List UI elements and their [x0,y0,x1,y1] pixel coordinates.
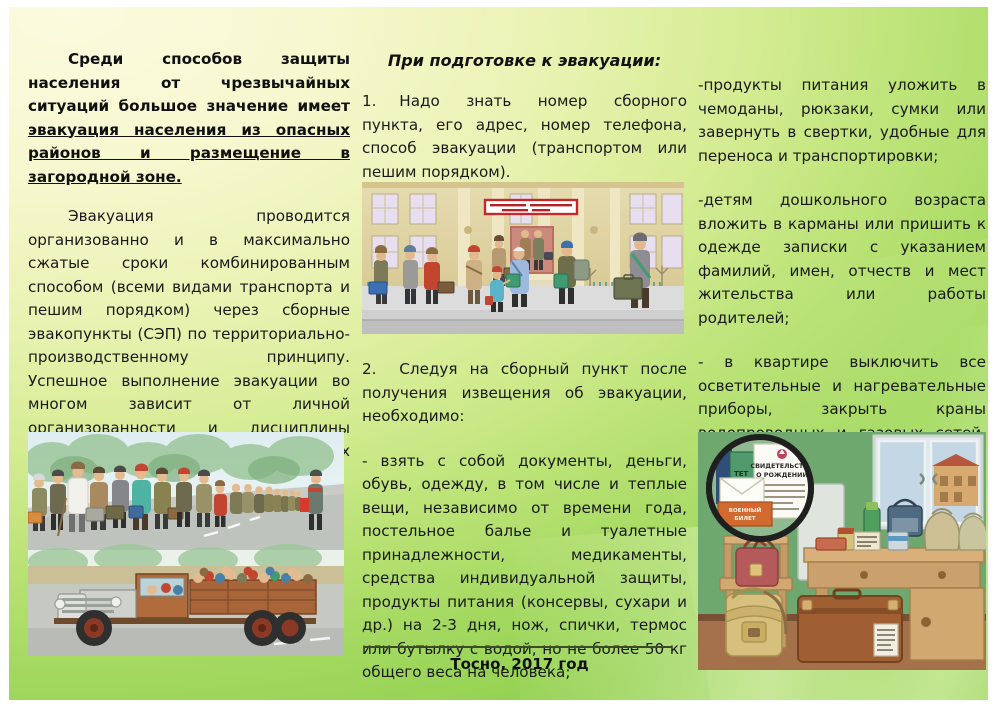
column-right: -продукты питания уложить в чемоданы, рю… [698,74,986,484]
packed-belongings-illustration: ТЕТ СВИДЕТЕЛЬСТВО О РОЖДЕНИИ [698,432,986,670]
backpack [726,589,786,656]
brochure-page: Среди способов защиты населения от чрезв… [0,0,1000,706]
military-card-line-1: ВОЕННЫЙ [729,506,762,514]
column-middle-continued: 2. Следуя на сборный пункт после получен… [362,358,687,700]
column-middle: При подготовке к эвакуации: 1. Надо знат… [362,50,687,199]
notebook-label: ТЕТ [734,470,749,478]
assembly-point-svg [362,182,684,334]
middle-item-2-bullet-1: - взять с собой документы, деньги, обувь… [362,450,687,685]
assembly-point-banner [485,200,577,214]
page-edge-bottom [0,700,1000,706]
middle-item-2: 2. Следуя на сборный пункт после получен… [362,358,687,429]
military-card-line-2: БИЛЕТ [734,516,755,522]
assembly-point-illustration [362,182,684,334]
evacuation-column-svg [28,432,344,656]
middle-heading: При подготовке к эвакуации: [362,50,687,72]
lead-plain: Среди способов защиты населения от чрезв… [28,50,350,115]
documents-inset: ТЕТ СВИДЕТЕЛЬСТВО О РОЖДЕНИИ [706,434,814,542]
evacuation-column-illustration [28,432,344,656]
footer-text: Тосно, 2017 год [362,655,677,673]
footer-divider [365,646,672,648]
lead-underlined: эвакуация населения из опасных районов и… [28,121,350,186]
right-bullet-2: -детям дошкольного возраста вложить в ка… [698,189,986,330]
page-edge-right [988,0,1000,706]
suitcase [798,590,902,662]
page-edge-top [0,0,1000,7]
packed-belongings-svg: ТЕТ СВИДЕТЕЛЬСТВО О РОЖДЕНИИ [698,432,986,670]
lead-paragraph: Среди способов защиты населения от чрезв… [28,48,350,189]
page-edge-left [0,0,9,706]
right-bullet-1: -продукты питания уложить в чемоданы, рю… [698,74,986,168]
middle-item-1: 1. Надо знать номер сборного пункта, его… [362,90,687,184]
